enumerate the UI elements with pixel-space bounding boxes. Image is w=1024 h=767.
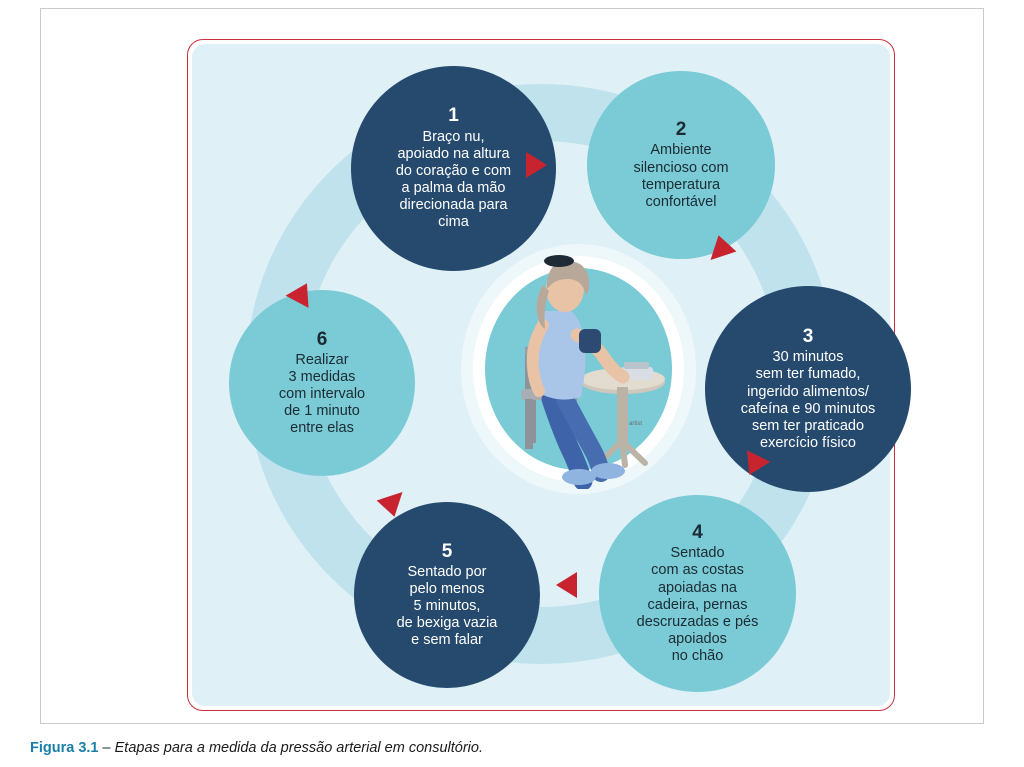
step-text-3: 30 minutos sem ter fumado, ingerido alim… (735, 349, 882, 452)
figure-frame: artist 1 Braço nu, apoiado na altura do … (40, 8, 984, 724)
step-number-3: 3 (803, 326, 814, 348)
step-circle-6[interactable]: 6 Realizar 3 medidas com intervalo de 1 … (229, 290, 415, 476)
step-text-5: Sentado por pelo menos 5 minutos, de bex… (391, 564, 504, 650)
step-number-5: 5 (442, 541, 453, 563)
step-text-6: Realizar 3 medidas com intervalo de 1 mi… (273, 352, 371, 438)
figure-caption-label: Figura 3.1 (30, 740, 99, 756)
figure-caption-dash: – (99, 740, 115, 756)
step-circle-3[interactable]: 3 30 minutos sem ter fumado, ingerido al… (705, 286, 911, 492)
step-number-2: 2 (676, 119, 687, 141)
step-text-4: Sentado com as costas apoiadas na cadeir… (631, 545, 765, 665)
arrow-step1-to-step2-icon (526, 152, 547, 178)
step-circle-5[interactable]: 5 Sentado por pelo menos 5 minutos, de b… (354, 502, 540, 688)
step-number-4: 4 (692, 522, 703, 544)
step-text-1: Braço nu, apoiado na altura do coração e… (390, 129, 517, 232)
step-circle-2[interactable]: 2 Ambiente silencioso com temperatura co… (587, 71, 775, 259)
step-text-2: Ambiente silencioso com temperatura conf… (627, 142, 734, 210)
figure-caption: Figura 3.1 – Etapas para a medida da pre… (30, 740, 483, 756)
step-number-6: 6 (317, 329, 328, 351)
arrow-step4-to-step5-icon (556, 572, 577, 598)
figure-caption-text: Etapas para a medida da pressão arterial… (115, 740, 483, 756)
woman-blood-pressure-illustration: artist (473, 249, 684, 489)
step-circle-4[interactable]: 4 Sentado com as costas apoiadas na cade… (599, 495, 796, 692)
svg-text:artist: artist (629, 421, 642, 427)
step-number-1: 1 (448, 105, 459, 127)
